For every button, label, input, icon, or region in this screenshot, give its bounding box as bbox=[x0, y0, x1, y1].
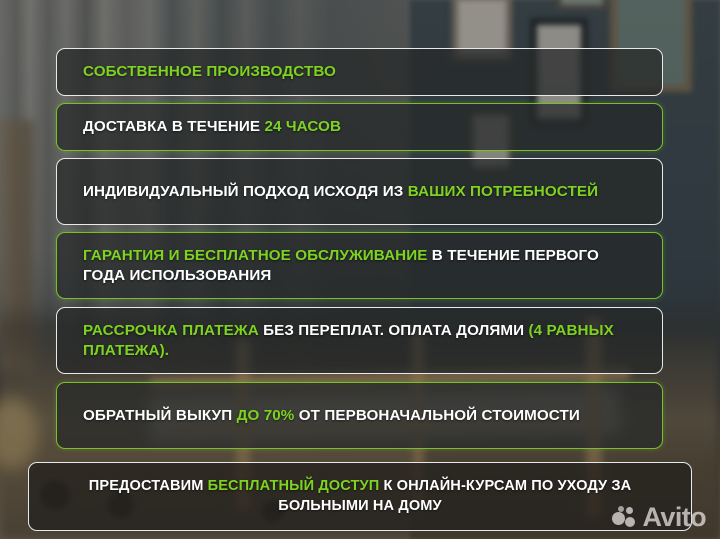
plain-text: ПРЕДОСТАВИМ bbox=[89, 478, 208, 494]
avito-wordmark: Avito bbox=[643, 504, 707, 531]
benefit-card-list: СОБСТВЕННОЕ ПРОИЗВОДСТВОДОСТАВКА В ТЕЧЕН… bbox=[0, 0, 720, 539]
benefit-card-installment-payment: РАССРОЧКА ПЛАТЕЖА БЕЗ ПЕРЕПЛАТ. ОПЛАТА Д… bbox=[56, 307, 663, 374]
benefit-card-text: РАССРОЧКА ПЛАТЕЖА БЕЗ ПЕРЕПЛАТ. ОПЛАТА Д… bbox=[83, 321, 636, 361]
promo-banner: СОБСТВЕННОЕ ПРОИЗВОДСТВОДОСТАВКА В ТЕЧЕН… bbox=[0, 0, 720, 539]
plain-text: ДОСТАВКА В ТЕЧЕНИЕ bbox=[83, 118, 264, 135]
benefit-card-text: ПРЕДОСТАВИМ БЕСПЛАТНЫЙ ДОСТУП К ОНЛАЙН-К… bbox=[55, 477, 665, 516]
benefit-card-text: ОБРАТНЫЙ ВЫКУП ДО 70% ОТ ПЕРВОНАЧАЛЬНОЙ … bbox=[83, 406, 580, 426]
benefit-card-free-online-courses: ПРЕДОСТАВИМ БЕСПЛАТНЫЙ ДОСТУП К ОНЛАЙН-К… bbox=[28, 462, 692, 531]
benefit-card-text: ИНДИВИДУАЛЬНЫЙ ПОДХОД ИСХОДЯ ИЗ ВАШИХ ПО… bbox=[83, 182, 598, 202]
highlighted-text: БЕСПЛАТНЫЙ ДОСТУП bbox=[208, 478, 380, 494]
plain-text: ОБРАТНЫЙ ВЫКУП bbox=[83, 407, 237, 424]
benefit-card-text: ДОСТАВКА В ТЕЧЕНИЕ 24 ЧАСОВ bbox=[83, 117, 341, 137]
benefit-card-warranty-free-service: ГАРАНТИЯ И БЕСПЛАТНОЕ ОБСЛУЖИВАНИЕ В ТЕЧ… bbox=[56, 232, 663, 299]
plain-text: БЕЗ ПЕРЕПЛАТ. ОПЛАТА ДОЛЯМИ bbox=[259, 322, 529, 339]
plain-text: ИНДИВИДУАЛЬНЫЙ ПОДХОД ИСХОДЯ ИЗ bbox=[83, 183, 408, 200]
highlighted-text: ДО 70% bbox=[237, 407, 295, 424]
highlighted-text: ГАРАНТИЯ И БЕСПЛАТНОЕ ОБСЛУЖИВАНИЕ bbox=[83, 247, 427, 264]
benefit-card-text: СОБСТВЕННОЕ ПРОИЗВОДСТВО bbox=[83, 62, 336, 82]
avito-dots-icon bbox=[612, 506, 638, 530]
avito-watermark: Avito bbox=[612, 504, 707, 531]
benefit-card-buyback: ОБРАТНЫЙ ВЫКУП ДО 70% ОТ ПЕРВОНАЧАЛЬНОЙ … bbox=[56, 382, 663, 449]
benefit-card-text: ГАРАНТИЯ И БЕСПЛАТНОЕ ОБСЛУЖИВАНИЕ В ТЕЧ… bbox=[83, 246, 636, 286]
plain-text: ОТ ПЕРВОНАЧАЛЬНОЙ СТОИМОСТИ bbox=[294, 407, 579, 424]
benefit-card-individual-approach: ИНДИВИДУАЛЬНЫЙ ПОДХОД ИСХОДЯ ИЗ ВАШИХ ПО… bbox=[56, 158, 663, 225]
highlighted-text: РАССРОЧКА ПЛАТЕЖА bbox=[83, 322, 259, 339]
benefit-card-own-production: СОБСТВЕННОЕ ПРОИЗВОДСТВО bbox=[56, 48, 663, 96]
highlighted-text: СОБСТВЕННОЕ ПРОИЗВОДСТВО bbox=[83, 63, 336, 80]
benefit-card-delivery-24h: ДОСТАВКА В ТЕЧЕНИЕ 24 ЧАСОВ bbox=[56, 103, 663, 151]
highlighted-text: 24 ЧАСОВ bbox=[264, 118, 341, 135]
highlighted-text: ВАШИХ ПОТРЕБНОСТЕЙ bbox=[408, 183, 598, 200]
